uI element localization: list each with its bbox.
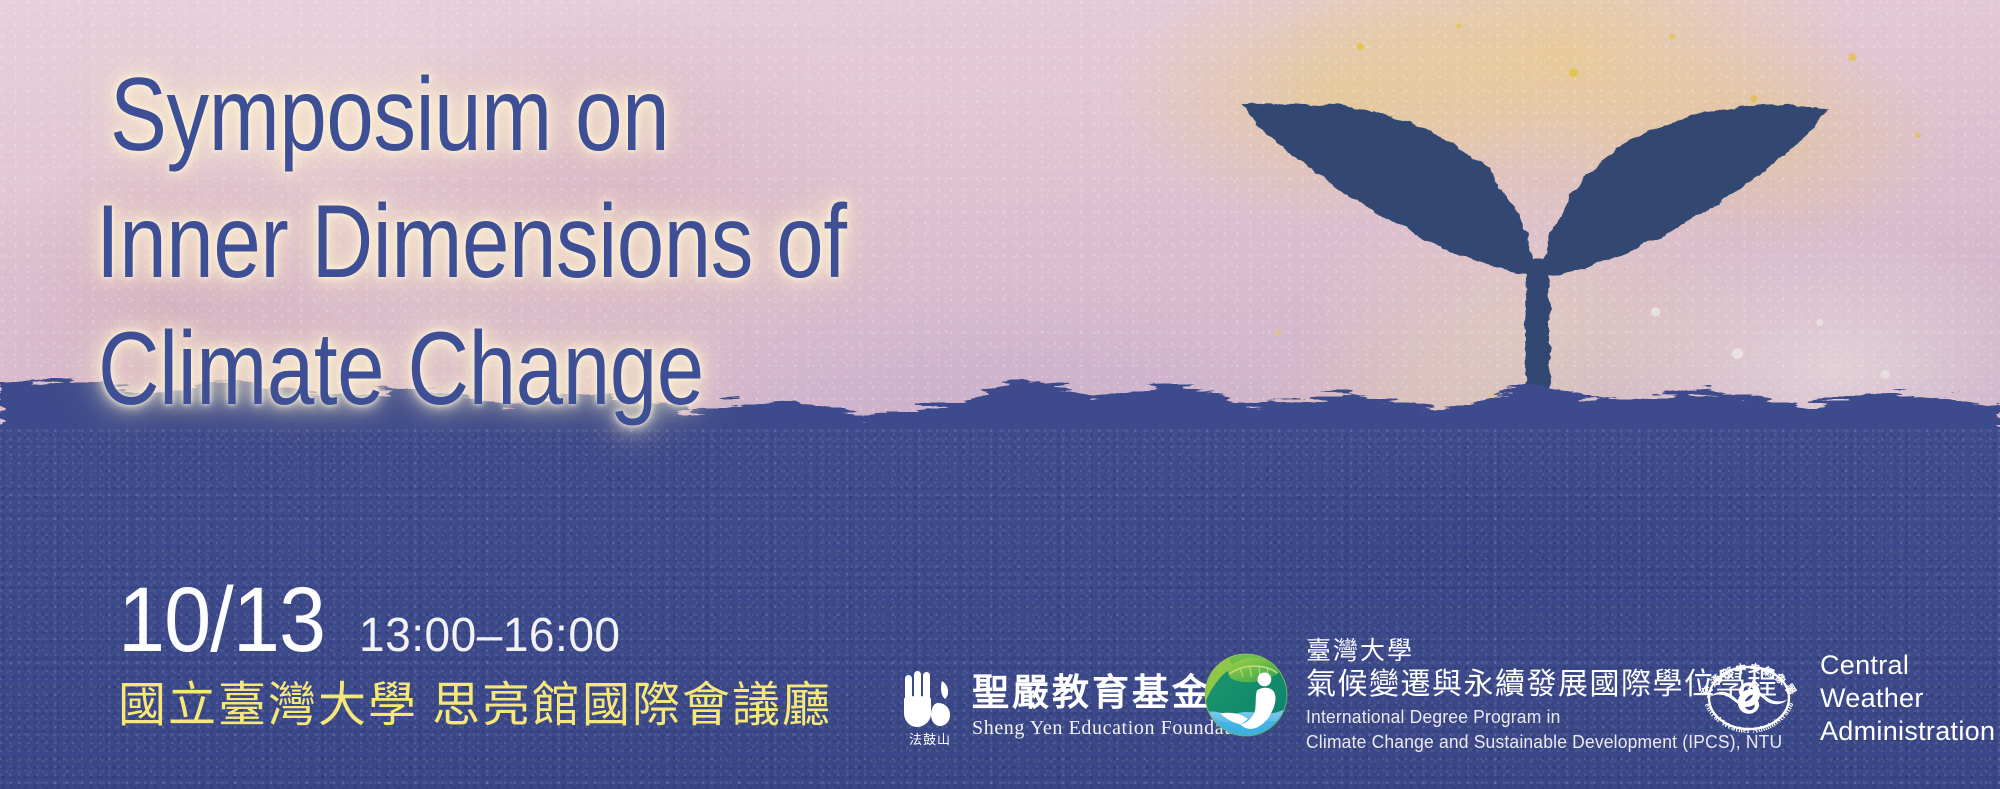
logo-central-weather-administration[interactable]: 交通部中央氣象署 Central Weather Administration … — [1690, 645, 1995, 751]
event-banner: Symposium on Inner Dimensions of Climate… — [0, 0, 2000, 789]
sponsor-logo-row: 法鼓山 聖嚴教育基金會 Sheng Yen Education Foundati… — [900, 637, 1980, 767]
logo-name-en-line2: Weather — [1820, 682, 1995, 715]
open-palm-sprout-icon: 法鼓山 — [900, 669, 958, 745]
globe-leaf-figure-icon — [1200, 649, 1292, 741]
cwa-seal-icon: 交通部中央氣象署 Central Weather Administration — [1690, 645, 1808, 751]
logo-name-en-line3: Administration — [1820, 715, 1995, 748]
event-details: 10/13 13:00–16:00 國立臺灣大學 思亮館國際會議廳 — [118, 572, 832, 734]
page-title: Symposium on Inner Dimensions of Climate… — [110, 52, 1210, 433]
date-time-row: 10/13 13:00–16:00 — [118, 572, 832, 668]
title-line-3: Climate Change — [98, 306, 1010, 433]
title-line-2: Inner Dimensions of — [96, 179, 1009, 306]
event-time: 13:00–16:00 — [359, 611, 621, 661]
logo-name-en-line1: Central — [1820, 649, 1995, 682]
logo-sub-label-fagushan: 法鼓山 — [898, 729, 962, 748]
event-venue: 國立臺灣大學 思亮館國際會議廳 — [118, 678, 832, 734]
logo-text-block: Central Weather Administration — [1820, 649, 1995, 748]
event-date: 10/13 — [118, 572, 325, 668]
title-line-1: Symposium on — [110, 52, 1012, 179]
